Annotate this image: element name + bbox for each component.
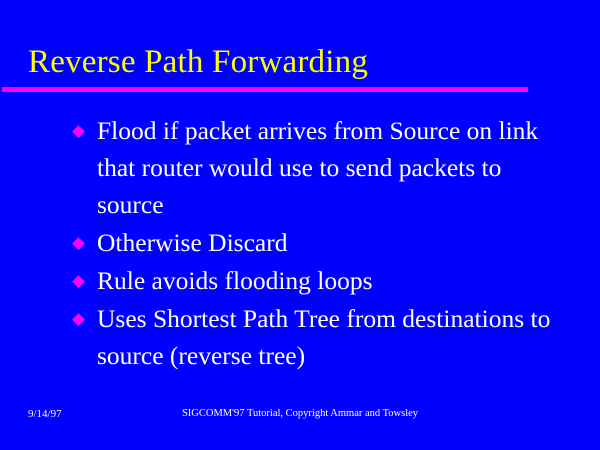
diamond-bullet-icon: ◆	[72, 224, 90, 261]
list-item: ◆ Otherwise Discard	[72, 224, 572, 261]
list-item-label: Flood if packet arrives from Source on l…	[97, 112, 572, 223]
diamond-bullet-icon: ◆	[72, 262, 90, 299]
title-underline-rule	[2, 87, 528, 92]
slide-footer: 9/14/97 SIGCOMM'97 Tutorial, Copyright A…	[0, 406, 600, 424]
title-block: Reverse Path Forwarding	[0, 42, 600, 82]
list-item: ◆ Rule avoids flooding loops	[72, 262, 572, 299]
diamond-bullet-icon: ◆	[72, 300, 90, 337]
list-item-label: Uses Shortest Path Tree from destination…	[97, 300, 572, 374]
page-title: Reverse Path Forwarding	[0, 42, 600, 82]
bullet-list: ◆ Flood if packet arrives from Source on…	[72, 112, 572, 375]
list-item: ◆ Flood if packet arrives from Source on…	[72, 112, 572, 223]
presentation-slide: Reverse Path Forwarding ◆ Flood if packe…	[0, 0, 600, 450]
diamond-bullet-icon: ◆	[72, 112, 90, 149]
list-item-label: Otherwise Discard	[97, 224, 572, 261]
footer-credit: SIGCOMM'97 Tutorial, Copyright Ammar and…	[0, 406, 600, 422]
list-item: ◆ Uses Shortest Path Tree from destinati…	[72, 300, 572, 374]
list-item-label: Rule avoids flooding loops	[97, 262, 572, 299]
